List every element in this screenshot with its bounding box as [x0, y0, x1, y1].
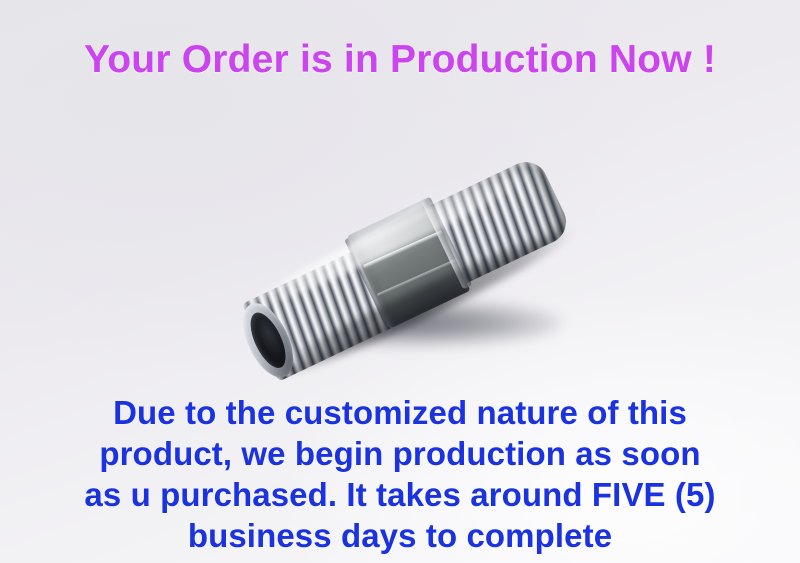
- message-line: Due to the customized nature of this: [0, 392, 800, 433]
- production-message: Due to the customized nature of this pro…: [0, 392, 800, 556]
- page-title: Your Order is in Production Now !: [0, 38, 800, 82]
- message-line: business days to complete: [0, 515, 800, 556]
- notice-graphic: Your Order is in Production Now ! Due to…: [0, 0, 800, 563]
- message-line: product, we begin production as soon: [0, 433, 800, 474]
- message-line: as u purchased. It takes around FIVE (5): [0, 474, 800, 515]
- product-photo: [222, 150, 602, 400]
